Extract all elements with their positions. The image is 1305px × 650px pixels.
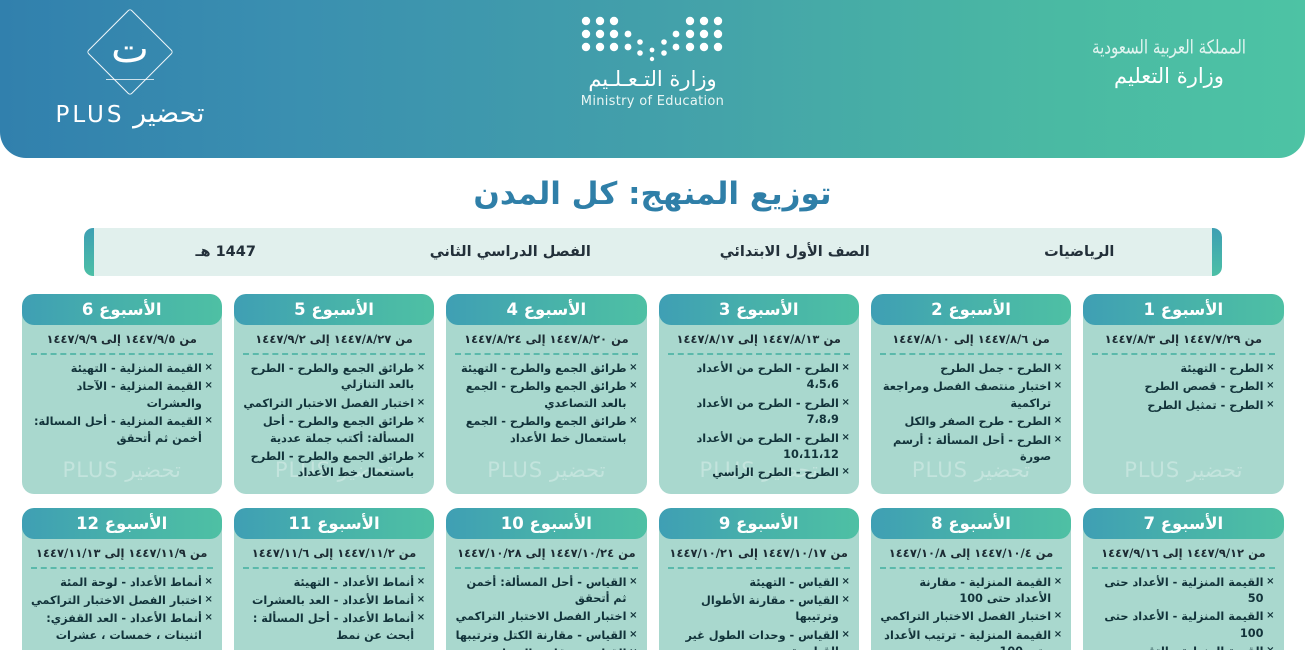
week-card-dates: من ١٤٤٧/١٠/٢٤ إلى ١٤٤٧/١٠/٢٨ [446,539,646,567]
topic-bullet-icon: × [1054,433,1062,448]
week-card[interactable]: الأسبوع 9من ١٤٤٧/١٠/١٧ إلى ١٤٤٧/١٠/٢١×ال… [659,508,859,650]
topic-bullet-icon: × [204,379,212,394]
week-card[interactable]: الأسبوع 3من ١٤٤٧/٨/١٣ إلى ١٤٤٧/٨/١٧×الطر… [659,294,859,494]
topic-bullet-icon: × [417,575,425,590]
week-topic-label: طرائق الجمع والطرح - أحل المسألة: أكتب ج… [263,415,414,444]
topic-bullet-icon: × [1266,575,1274,590]
week-topic-label: القياس - مقارنة الأطوال وترتيبها [701,594,839,623]
week-topic-label: القيمة المنزلية - الأعداد حتى 100 [1104,610,1263,639]
topic-bullet-icon: × [417,611,425,626]
week-card-title: الأسبوع 6 [22,294,222,325]
week-topic-label: القيمة المنزلية - ترتيب الأعداد حتى 100 [884,629,1051,650]
week-topic-item: ×القيمة المنزلية - الأعداد حتى 100 [1092,609,1274,642]
topic-bullet-icon: × [841,575,849,590]
week-card-dates: من ١٤٤٧/١١/٩ إلى ١٤٤٧/١١/١٣ [22,539,222,567]
topic-bullet-icon: × [841,431,849,446]
week-topic-label: القيمة المنزلية - التقدير [1130,645,1263,650]
week-topic-item: ×الطرح - الطرح الرأسي [668,465,850,481]
info-cell-year: 1447 هـ [84,244,369,260]
week-card-title: الأسبوع 4 [446,294,646,325]
card-watermark: تحضير PLUS [22,458,222,482]
week-topic-label: طرائق الجمع والطرح - الجمع بالعد التصاعد… [466,380,627,409]
info-cell-semester: الفصل الدراسي الثاني [368,244,653,260]
week-topic-item: ×الطرح - طرح الصفر والكل [880,414,1062,430]
week-topic-item: ×القياس - أحل المسألة: أخمن ثم أتحقق [455,575,637,608]
week-topic-label: القياس - التهيئة [749,576,839,589]
card-watermark: تحضير PLUS [446,458,646,482]
topic-bullet-icon: × [1266,379,1274,394]
topic-bullet-icon: × [1266,609,1274,624]
week-card-title: الأسبوع 3 [659,294,859,325]
week-topic-list: ×القياس - التهيئة×القياس - مقارنة الأطوا… [659,575,859,650]
ksa-ministry-logo: المملكة العربية السعودية وزارة التعليم [1069,38,1269,88]
week-topic-item: ×اختبار الفصل الاختبار التراكمي [455,609,637,625]
week-topic-item: ×أنماط الأعداد - التهيئة [243,575,425,591]
week-topic-label: القيمة المنزلية - التهيئة [71,362,202,375]
week-topic-item: ×الطرح - جمل الطرح [880,361,1062,377]
week-topic-label: طرائق الجمع والطرح - الجمع باستعمال خط ا… [466,415,627,444]
week-topic-list: ×طرائق الجمع والطرح - التهيئة×طرائق الجم… [446,361,646,459]
weeks-grid: الأسبوع 1من ١٤٤٧/٧/٢٩ إلى ١٤٤٧/٨/٣×الطرح… [22,294,1284,650]
week-topic-label: الطرح - الطرح الرأسي [712,466,839,479]
week-card-dates: من ١٤٤٧/٨/٢٧ إلى ١٤٤٧/٩/٢ [234,325,434,353]
week-topic-label: أنماط الأعداد - أحل المسألة : أبحث عن نم… [253,612,414,641]
moe-name-arabic: وزارة التـعـلـيم [588,67,716,91]
topic-bullet-icon: × [204,414,212,429]
week-topic-item: ×الطرح - تمثيل الطرح [1092,398,1274,414]
topic-bullet-icon: × [1266,361,1274,376]
page-title: توزيع المنهج: كل المدن [0,176,1305,212]
week-topic-list: ×الطرح - التهيئة×الطرح - قصص الطرح×الطرح… [1083,361,1283,426]
week-topic-list: ×القيمة المنزلية - الأعداد حتى 50×القيمة… [1083,575,1283,650]
topic-bullet-icon: × [417,414,425,429]
week-topic-label: أنماط الأعداد - لوحة المئة [60,576,202,589]
topic-bullet-icon: × [1054,379,1062,394]
week-topic-item: ×الطرح - أحل المسألة : أرسم صورة [880,433,1062,466]
week-card[interactable]: الأسبوع 4من ١٤٤٧/٨/٢٠ إلى ١٤٤٧/٨/٢٤×طرائ… [446,294,646,494]
week-card[interactable]: الأسبوع 2من ١٤٤٧/٨/٦ إلى ١٤٤٧/٨/١٠×الطرح… [871,294,1071,494]
week-card-divider [243,567,425,569]
week-topic-item: ×طرائق الجمع والطرح - الطرح بالعد التناز… [243,361,425,394]
topic-bullet-icon: × [841,361,849,376]
week-card-dates: من ١٤٤٧/٩/٥ إلى ١٤٤٧/٩/٩ [22,325,222,353]
info-cell-grade: الصف الأول الابتدائي [653,244,938,260]
week-topic-label: القيمة المنزلية - أحل المسالة: أخمن ثم أ… [34,415,202,444]
topic-bullet-icon: × [841,628,849,643]
topic-bullet-icon: × [629,361,637,376]
week-topic-label: الطرح - قصص الطرح [1144,380,1263,393]
brand-name-ar: تحضير [133,98,204,129]
topic-bullet-icon: × [417,396,425,411]
topic-bullet-icon: × [629,414,637,429]
topic-bullet-icon: × [1266,398,1274,413]
week-card-dates: من ١٤٤٧/١٠/١٧ إلى ١٤٤٧/١٠/٢١ [659,539,859,567]
week-topic-item: ×طرائق الجمع والطرح - الجمع بالعد التصاع… [455,379,637,412]
week-topic-list: ×القيمة المنزلية - مقارنة الأعداد حتى 10… [871,575,1071,650]
week-card[interactable]: الأسبوع 8من ١٤٤٧/١٠/٤ إلى ١٤٤٧/١٠/٨×القي… [871,508,1071,650]
week-topic-label: الطرح - طرح الصفر والكل [904,415,1051,428]
info-cell-subject: الرياضيات [937,244,1222,260]
diamond-underline-icon [106,79,154,80]
week-card-title: الأسبوع 10 [446,508,646,539]
week-topic-label: القياس - وحدات الطول غير القياسية [685,629,838,650]
brand-name-plus: PLUS [56,102,125,128]
topic-bullet-icon: × [204,593,212,608]
week-card-dates: من ١٤٤٧/٩/١٢ إلى ١٤٤٧/٩/١٦ [1083,539,1283,567]
week-topic-label: الطرح - الطرح من الأعداد 10،11،12 [696,432,838,461]
week-topic-item: ×اختبار الفصل الاختبار التراكمي [31,593,213,609]
topic-bullet-icon: × [1054,628,1062,643]
curriculum-distribution-page: ت تحضير PLUS [0,0,1305,650]
topic-bullet-icon: × [629,646,637,650]
topic-bullet-icon: × [1054,609,1062,624]
tahdir-plus-logo[interactable]: ت تحضير PLUS [30,8,230,138]
info-bar: الرياضيات الصف الأول الابتدائي الفصل الد… [84,228,1222,276]
week-card[interactable]: الأسبوع 7من ١٤٤٧/٩/١٢ إلى ١٤٤٧/٩/١٦×القي… [1083,508,1283,650]
week-card-title: الأسبوع 11 [234,508,434,539]
week-topic-label: طرائق الجمع والطرح - التهيئة [461,362,627,375]
week-topic-label: طرائق الجمع والطرح - الطرح بالعد التنازل… [251,362,415,391]
week-topic-label: اختبار الفصل الاختبار التراكمي [31,594,202,607]
topic-bullet-icon: × [629,575,637,590]
week-topic-label: أنماط الأعداد - التهيئة [294,576,415,589]
week-card-divider [243,353,425,355]
week-card-title: الأسبوع 2 [871,294,1071,325]
week-topic-item: ×القيمة المنزلية - التقدير [1092,644,1274,650]
ministry-of-education-logo: وزارة التـعـلـيم Ministry of Education [523,14,783,109]
week-card[interactable]: الأسبوع 5من ١٤٤٧/٨/٢٧ إلى ١٤٤٧/٩/٢×طرائق… [234,294,434,494]
week-topic-item: ×القيمة المنزلية - ترتيب الأعداد حتى 100 [880,628,1062,650]
week-topic-item: ×طرائق الجمع والطرح - الجمع باستعمال خط … [455,414,637,447]
week-topic-list: ×طرائق الجمع والطرح - الطرح بالعد التناز… [234,361,434,494]
week-topic-label: اختبار الفصل الاختبار التراكمي [880,610,1051,623]
week-topic-item: ×القياس - مقارنة السعات وترتيبها [455,646,637,650]
moe-dots-emblem-icon [578,14,728,62]
card-watermark: تحضير PLUS [1083,458,1283,482]
week-topic-item: ×أنماط الأعداد - لوحة المئة [31,575,213,591]
week-topic-item: ×الطرح - الطرح من الأعداد 10،11،12 [668,431,850,464]
week-topic-label: القيمة المنزلية - الآحاد والعشرات [77,380,202,409]
week-topic-item: ×القياس - مقارنة الأطوال وترتيبها [668,593,850,626]
week-card-title: الأسبوع 1 [1083,294,1283,325]
week-card-title: الأسبوع 7 [1083,508,1283,539]
week-card-title: الأسبوع 8 [871,508,1071,539]
topic-bullet-icon: × [1054,414,1062,429]
week-card-divider [668,567,850,569]
ksa-ministry-name: وزارة التعليم [1114,64,1224,88]
week-card-title: الأسبوع 5 [234,294,434,325]
week-topic-list: ×الطرح - جمل الطرح×اختبار منتصف الفصل وم… [871,361,1071,477]
week-card[interactable]: الأسبوع 6من ١٤٤٧/٩/٥ إلى ١٤٤٧/٩/٩×القيمة… [22,294,222,494]
week-topic-label: طرائق الجمع والطرح - الطرح باستعمال خط ا… [251,450,415,479]
week-topic-item: ×الطرح - قصص الطرح [1092,379,1274,395]
brand-name: تحضير PLUS [56,98,205,129]
week-topic-item: ×طرائق الجمع والطرح - التهيئة [455,361,637,377]
week-topic-label: القياس - مقارنة الكتل وترتيبها [456,629,627,642]
topic-bullet-icon: × [629,628,637,643]
week-topic-item: ×القيمة المنزلية - الآحاد والعشرات [31,379,213,412]
week-topic-label: الطرح - الطرح من الأعداد 4،5،6 [696,362,838,391]
week-card-divider [455,353,637,355]
topic-bullet-icon: × [629,379,637,394]
week-card-title: الأسبوع 12 [22,508,222,539]
week-topic-item: ×الطرح - الطرح من الأعداد 4،5،6 [668,361,850,394]
week-topic-label: القيمة المنزلية - الأعداد حتى 50 [1104,576,1263,605]
topic-bullet-icon: × [841,593,849,608]
week-topic-item: ×القياس - وحدات الطول غير القياسية [668,628,850,650]
week-topic-list: ×أنماط الأعداد - لوحة المئة×اختبار الفصل… [22,575,222,650]
week-topic-item: ×أنماط الأعداد - العد القفزي: اثنينات ، … [31,611,213,644]
week-card-divider [1092,353,1274,355]
week-topic-label: اختبار الفصل الاختبار التراكمي [243,397,414,410]
kingdom-calligraphy: المملكة العربية السعودية [1092,36,1246,59]
topic-bullet-icon: × [417,449,425,464]
week-card-dates: من ١٤٤٧/١١/٢ إلى ١٤٤٧/١١/٦ [234,539,434,567]
week-topic-item: ×أنماط الأعداد - العد بالعشرات [243,593,425,609]
week-card-dates: من ١٤٤٧/٨/١٣ إلى ١٤٤٧/٨/١٧ [659,325,859,353]
week-topic-item: ×الطرح - الطرح من الأعداد 7،8،9 [668,396,850,429]
week-topic-label: اختبار الفصل الاختبار التراكمي [456,610,627,623]
week-card-divider [1092,567,1274,569]
week-card-divider [880,353,1062,355]
week-topic-label: القياس - أحل المسألة: أخمن ثم أتحقق [467,576,627,605]
week-topic-item: ×القياس - التهيئة [668,575,850,591]
week-topic-item: ×القياس - مقارنة الكتل وترتيبها [455,628,637,644]
page-header: ت تحضير PLUS [0,0,1305,158]
diamond-letter: ت [111,29,149,69]
topic-bullet-icon: × [1054,575,1062,590]
week-topic-item: ×طرائق الجمع والطرح - أحل المسألة: أكتب … [243,414,425,447]
week-card-divider [668,353,850,355]
week-card-dates: من ١٤٤٧/١٠/٤ إلى ١٤٤٧/١٠/٨ [871,539,1071,567]
week-card-dates: من ١٤٤٧/٧/٢٩ إلى ١٤٤٧/٨/٣ [1083,325,1283,353]
week-topic-item: ×القيمة المنزلية - أحل المسالة: أخمن ثم … [31,414,213,447]
week-card-divider [31,353,213,355]
week-card-dates: من ١٤٤٧/٨/٦ إلى ١٤٤٧/٨/١٠ [871,325,1071,353]
topic-bullet-icon: × [417,593,425,608]
topic-bullet-icon: × [841,465,849,480]
week-topic-item: ×اختبار الفصل الاختبار التراكمي [243,396,425,412]
week-card[interactable]: الأسبوع 12من ١٤٤٧/١١/٩ إلى ١٤٤٧/١١/١٣×أن… [22,508,222,650]
week-topic-label: القيمة المنزلية - مقارنة الأعداد حتى 100 [919,576,1051,605]
topic-bullet-icon: × [629,609,637,624]
topic-bullet-icon: × [841,396,849,411]
week-topic-label: الطرح - تمثيل الطرح [1147,399,1263,412]
week-topic-label: الطرح - جمل الطرح [940,362,1051,375]
week-topic-item: ×طرائق الجمع والطرح - الطرح باستعمال خط … [243,449,425,482]
week-topic-item: ×اختبار منتصف الفصل ومراجعة تراكمية [880,379,1062,412]
topic-bullet-icon: × [1054,361,1062,376]
week-topic-item: ×الطرح - التهيئة [1092,361,1274,377]
topic-bullet-icon: × [1266,644,1274,650]
diamond-logo-icon: ت [84,8,176,96]
week-card-dates: من ١٤٤٧/٨/٢٠ إلى ١٤٤٧/٨/٢٤ [446,325,646,353]
week-topic-label: أنماط الأعداد - العد القفزي: اثنينات ، خ… [46,612,202,641]
week-topic-item: ×القيمة المنزلية - التهيئة [31,361,213,377]
week-card-divider [455,567,637,569]
week-topic-label: أنماط الأعداد - العد بالعشرات [252,594,414,607]
week-topic-item: ×القيمة المنزلية - الأعداد حتى 50 [1092,575,1274,608]
topic-bullet-icon: × [204,361,212,376]
week-card-divider [880,567,1062,569]
week-topic-label: الطرح - أحل المسألة : أرسم صورة [893,434,1051,463]
topic-bullet-icon: × [204,575,212,590]
week-card[interactable]: الأسبوع 11من ١٤٤٧/١١/٢ إلى ١٤٤٧/١١/٦×أنم… [234,508,434,650]
week-topic-list: ×القيمة المنزلية - التهيئة×القيمة المنزل… [22,361,222,459]
topic-bullet-icon: × [204,611,212,626]
moe-name-english: Ministry of Education [581,94,724,109]
topic-bullet-icon: × [417,361,425,376]
week-card-divider [31,567,213,569]
week-card[interactable]: الأسبوع 10من ١٤٤٧/١٠/٢٤ إلى ١٤٤٧/١٠/٢٨×ا… [446,508,646,650]
week-card-title: الأسبوع 9 [659,508,859,539]
week-topic-item: ×أنماط الأعداد - أحل المسألة : أبحث عن ن… [243,611,425,644]
week-topic-item: ×اختبار الفصل الاختبار التراكمي [880,609,1062,625]
week-topic-list: ×أنماط الأعداد - التهيئة×أنماط الأعداد -… [234,575,434,650]
week-topic-list: ×القياس - أحل المسألة: أخمن ثم أتحقق×اخت… [446,575,646,650]
week-card[interactable]: الأسبوع 1من ١٤٤٧/٧/٢٩ إلى ١٤٤٧/٨/٣×الطرح… [1083,294,1283,494]
week-topic-item: ×القيمة المنزلية - مقارنة الأعداد حتى 10… [880,575,1062,608]
week-topic-label: الطرح - التهيئة [1180,362,1263,375]
week-topic-list: ×الطرح - الطرح من الأعداد 4،5،6×الطرح - … [659,361,859,494]
week-topic-label: اختبار منتصف الفصل ومراجعة تراكمية [883,380,1051,409]
week-topic-label: الطرح - الطرح من الأعداد 7،8،9 [696,397,838,426]
